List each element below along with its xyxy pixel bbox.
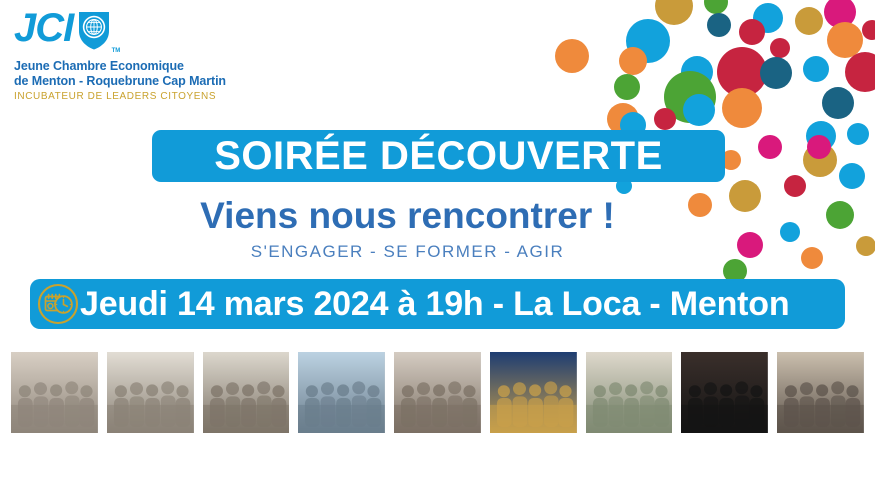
poster-canvas: JCI TM Jeune Chambre Economique de Ment [0, 0, 875, 493]
subtitle-values-text: S'ENGAGER - SE FORMER - AGIR [0, 242, 875, 262]
calendar-clock-icon [36, 282, 80, 326]
confetti-dot [614, 74, 640, 100]
confetti-dot [717, 47, 767, 97]
confetti-dot [803, 143, 837, 177]
logo-wordmark-text: JCI [14, 8, 73, 48]
logo-name-line-1: Jeune Chambre Economique [14, 59, 184, 73]
confetti-dot [760, 57, 792, 89]
event-photo [298, 352, 385, 433]
event-photo [586, 352, 673, 433]
confetti-dot [839, 163, 865, 189]
confetti-dot [555, 39, 589, 73]
logo-organisation-name: Jeune Chambre Economique de Menton - Roq… [14, 59, 264, 88]
subtitle-main-text: Viens nous rencontrer ! [0, 194, 875, 238]
event-photo [107, 352, 194, 433]
confetti-dot [626, 19, 670, 63]
confetti-dot [824, 0, 856, 28]
confetti-dot [845, 52, 875, 92]
date-banner: Jeudi 14 mars 2024 à 19h - La Loca - Men… [30, 279, 845, 329]
jci-logo: JCI TM Jeune Chambre Economique de Ment [14, 8, 264, 103]
confetti-dot [758, 135, 782, 159]
confetti-dot [722, 88, 762, 128]
confetti-dot [847, 123, 869, 145]
confetti-dot [654, 108, 676, 130]
confetti-dot [664, 71, 716, 123]
confetti-dot [862, 20, 875, 40]
trademark-symbol: TM [112, 48, 121, 54]
confetti-dot [753, 3, 783, 33]
confetti-dot [739, 19, 765, 45]
jci-shield-globe-icon: TM [77, 9, 111, 56]
confetti-dot [822, 87, 854, 119]
confetti-dot [807, 135, 831, 159]
event-photo-strip [11, 352, 864, 433]
event-photo [681, 352, 768, 433]
logo-wordmark-row: JCI TM [14, 8, 264, 54]
headline-text: SOIRÉE DÉCOUVERTE [214, 136, 663, 176]
confetti-dot [806, 121, 836, 151]
confetti-dot [707, 13, 731, 37]
confetti-dot [770, 38, 790, 58]
confetti-dot [704, 0, 728, 14]
subtitle-block: Viens nous rencontrer ! S'ENGAGER - SE F… [0, 194, 875, 262]
event-photo [777, 352, 864, 433]
confetti-dot [803, 56, 829, 82]
confetti-dot [619, 47, 647, 75]
confetti-dot [655, 0, 693, 25]
event-photo [394, 352, 481, 433]
confetti-dot [681, 56, 713, 88]
date-banner-text: Jeudi 14 mars 2024 à 19h - La Loca - Men… [80, 287, 789, 321]
headline-banner: SOIRÉE DÉCOUVERTE [152, 130, 725, 182]
logo-name-line-2: de Menton - Roquebrune Cap Martin [14, 74, 226, 88]
confetti-dot [683, 94, 715, 126]
event-photo [11, 352, 98, 433]
logo-tagline: INCUBATEUR DE LEADERS CITOYENS [14, 91, 264, 103]
confetti-dot [827, 22, 863, 58]
event-photo [490, 352, 577, 433]
confetti-dot [795, 7, 823, 35]
event-photo [203, 352, 290, 433]
